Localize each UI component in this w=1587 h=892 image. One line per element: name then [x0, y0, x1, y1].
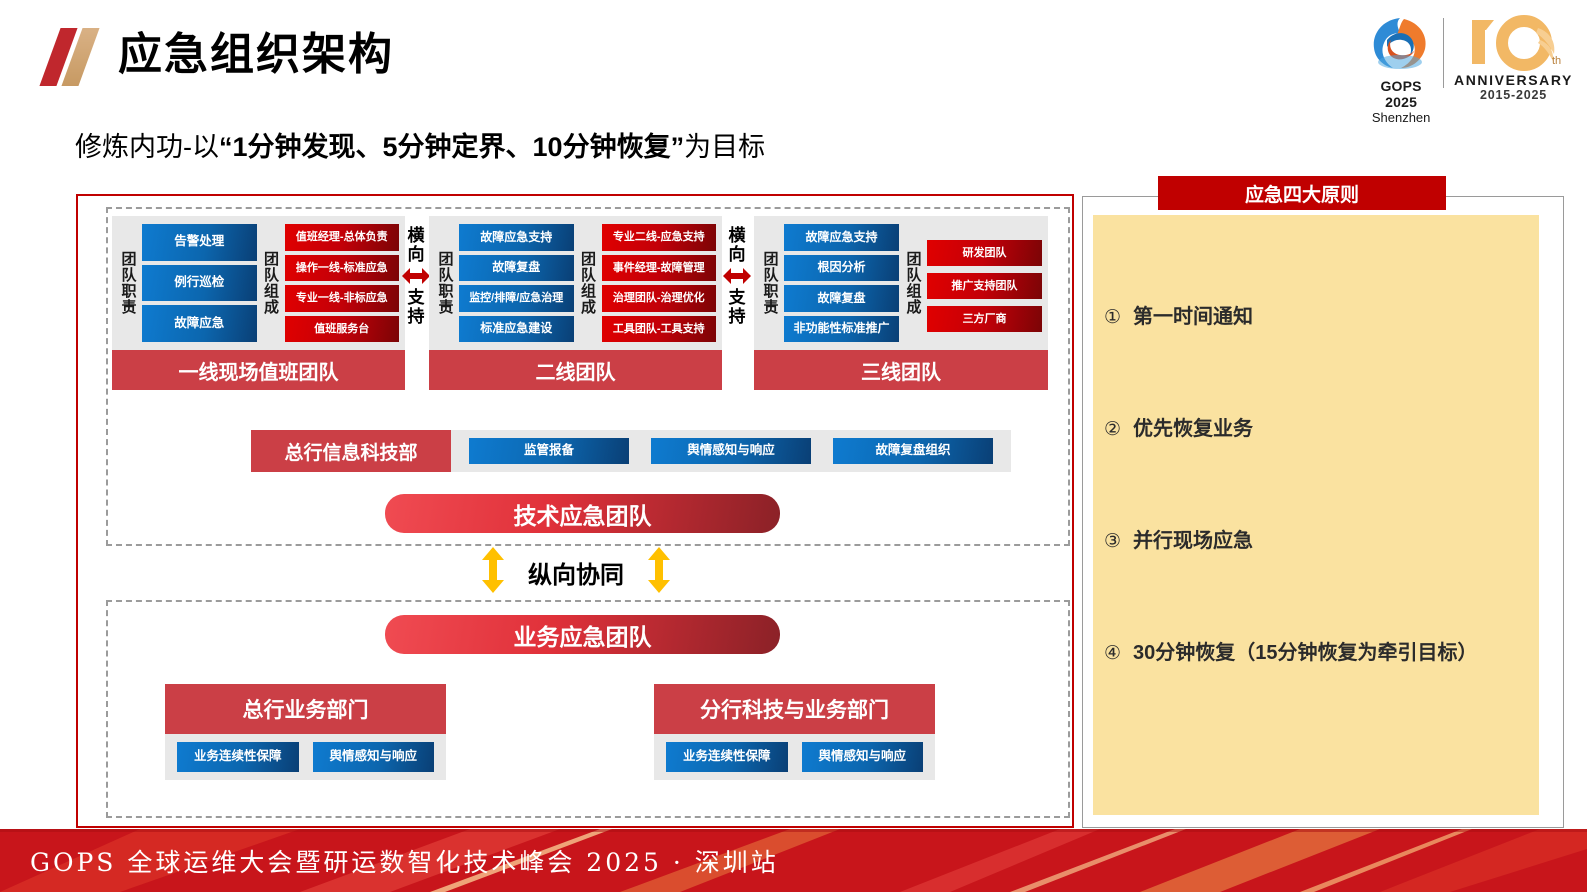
principle-number: ④ [1104, 642, 1121, 665]
gops-logo-name: GOPS 2025 [1363, 78, 1439, 110]
team-header-third-line[interactable]: 三线团队 [754, 350, 1048, 390]
gops-swirl-icon [1366, 14, 1436, 76]
principle-item: ① 第一时间通知 [1104, 300, 1544, 412]
chip-duty[interactable]: 故障应急支持 [784, 224, 899, 251]
principle-item: ③ 并行现场应急 [1104, 524, 1544, 636]
anniversary-label: ANNIVERSARY [1454, 72, 1573, 88]
chip-member[interactable]: 治理团队-治理优化 [602, 285, 717, 312]
vertical-collaboration-label: 纵向协同 [528, 555, 624, 590]
chip-duty[interactable]: 根因分析 [784, 255, 899, 282]
team-members-chips-3: 研发团队 推广支持团队 三方厂商 [927, 224, 1042, 342]
footer-text: GOPS 全球运维大会暨研运数智化技术峰会 2025 · 深圳站 [30, 829, 779, 892]
principles-list: ① 第一时间通知 ② 优先恢复业务 ③ 并行现场应急 ④ 30分钟恢复（15分钟… [1104, 300, 1544, 748]
chip-duty[interactable]: 标准应急建设 [459, 316, 574, 343]
principle-number: ① [1104, 306, 1121, 329]
chip-hq-function[interactable]: 故障复盘组织 [833, 438, 993, 464]
team-header-second-line[interactable]: 二线团队 [429, 350, 722, 390]
vertical-collaboration-group: 纵向协同 [480, 546, 672, 599]
chip-duty[interactable]: 监控/排障/应急治理 [459, 285, 574, 312]
page-title: 应急组织架构 [118, 26, 394, 84]
horizontal-support-1: 横向 支持 [401, 226, 431, 326]
horizontal-support-bottom-2: 支持 [722, 288, 752, 326]
team-members-label-1: 团队组成 [261, 224, 281, 342]
double-arrow-vertical-icon [646, 546, 672, 599]
subtitle-prefix: 修炼内功-以 [75, 132, 219, 162]
principle-text: 并行现场应急 [1133, 524, 1253, 553]
chip-duty[interactable]: 故障应急 [142, 305, 257, 342]
chip-duty[interactable]: 故障应急支持 [459, 224, 574, 251]
chip-member[interactable]: 推广支持团队 [927, 273, 1042, 299]
chip-department-function[interactable]: 舆情感知与响应 [313, 742, 435, 772]
chip-duty[interactable]: 非功能性标准推广 [784, 316, 899, 343]
team-duties-label-1: 团队职责 [118, 224, 138, 342]
department-chips: 业务连续性保障 舆情感知与响应 [165, 734, 446, 780]
team-body-first-line: 团队职责 告警处理 例行巡检 故障应急 团队组成 值班经理-总体负责 操作一线-… [112, 216, 405, 350]
principle-item: ④ 30分钟恢复（15分钟恢复为牵引目标） [1104, 636, 1544, 748]
horizontal-support-2: 横向 支持 [722, 226, 752, 326]
hq-it-chips: 监管报备 舆情感知与响应 故障复盘组织 [451, 430, 1011, 472]
team-duties-chips-1: 告警处理 例行巡检 故障应急 [142, 224, 257, 342]
chip-duty[interactable]: 告警处理 [142, 224, 257, 261]
chip-hq-function[interactable]: 舆情感知与响应 [651, 438, 811, 464]
team-members-label-3: 团队组成 [903, 224, 923, 342]
chip-duty[interactable]: 故障复盘 [784, 285, 899, 312]
team-block-second-line: 团队职责 故障应急支持 故障复盘 监控/排障/应急治理 标准应急建设 团队组成 … [429, 216, 722, 390]
chip-duty[interactable]: 故障复盘 [459, 255, 574, 282]
team-block-third-line: 团队职责 故障应急支持 根因分析 故障复盘 非功能性标准推广 团队组成 研发团队… [754, 216, 1048, 390]
chip-member[interactable]: 工具团队-工具支持 [602, 316, 717, 343]
team-duties-label-2: 团队职责 [435, 224, 455, 342]
tech-emergency-team-pill[interactable]: 技术应急团队 [385, 494, 780, 533]
department-header[interactable]: 总行业务部门 [165, 684, 446, 734]
team-block-first-line: 团队职责 告警处理 例行巡检 故障应急 团队组成 值班经理-总体负责 操作一线-… [112, 216, 405, 390]
gops-logo: GOPS 2025 Shenzhen th ANNIVERSARY 2015-2… [1363, 14, 1573, 114]
principle-text: 第一时间通知 [1133, 300, 1253, 329]
anniversary-10-icon: th [1454, 14, 1573, 72]
chip-member[interactable]: 研发团队 [927, 240, 1042, 266]
horizontal-support-top-2: 横向 [722, 226, 752, 264]
hq-it-department-label[interactable]: 总行信息科技部 [251, 430, 451, 472]
gops-logo-left: GOPS 2025 Shenzhen [1363, 14, 1439, 125]
page-subtitle: 修炼内功-以“1分钟发现、5分钟定界、10分钟恢复”为目标 [75, 129, 765, 165]
logo-divider [1443, 18, 1444, 88]
principle-text: 优先恢复业务 [1133, 412, 1253, 441]
chip-department-function[interactable]: 业务连续性保障 [177, 742, 299, 772]
team-members-chips-2: 专业二线-应急支持 事件经理-故障管理 治理团队-治理优化 工具团队-工具支持 [602, 224, 717, 342]
principle-text: 30分钟恢复（15分钟恢复为牵引目标） [1133, 636, 1478, 665]
chip-member[interactable]: 值班服务台 [285, 316, 400, 343]
subtitle-quote: “1分钟发现、5分钟定界、10分钟恢复” [219, 132, 684, 162]
chip-member[interactable]: 三方厂商 [927, 306, 1042, 332]
chip-hq-function[interactable]: 监管报备 [469, 438, 629, 464]
team-duties-chips-3: 故障应急支持 根因分析 故障复盘 非功能性标准推广 [784, 224, 899, 342]
principle-number: ③ [1104, 530, 1121, 553]
business-emergency-team-pill[interactable]: 业务应急团队 [385, 615, 780, 654]
chip-member[interactable]: 专业二线-应急支持 [602, 224, 717, 251]
chip-department-function[interactable]: 舆情感知与响应 [802, 742, 924, 772]
double-arrow-horizontal-icon [722, 264, 752, 288]
chip-duty[interactable]: 例行巡检 [142, 265, 257, 302]
department-chips: 业务连续性保障 舆情感知与响应 [654, 734, 935, 780]
horizontal-support-top-1: 横向 [401, 226, 431, 264]
chip-member[interactable]: 事件经理-故障管理 [602, 255, 717, 282]
double-arrow-vertical-icon [480, 546, 506, 599]
chip-department-function[interactable]: 业务连续性保障 [666, 742, 788, 772]
principle-number: ② [1104, 418, 1121, 441]
chip-member[interactable]: 操作一线-标准应急 [285, 255, 400, 282]
team-duties-label-3: 团队职责 [760, 224, 780, 342]
svg-text:th: th [1552, 55, 1561, 67]
department-hq-business: 总行业务部门 业务连续性保障 舆情感知与响应 [165, 684, 446, 780]
horizontal-support-bottom-1: 支持 [401, 288, 431, 326]
chip-member[interactable]: 专业一线-非标应急 [285, 285, 400, 312]
principle-item: ② 优先恢复业务 [1104, 412, 1544, 524]
hq-it-department-row: 总行信息科技部 监管报备 舆情感知与响应 故障复盘组织 [251, 430, 976, 472]
slide-root: 应急组织架构 修炼内功-以“1分钟发现、5分钟定界、10分钟恢复”为目标 GOP… [0, 0, 1587, 892]
gops-logo-city: Shenzhen [1363, 110, 1439, 125]
footer-bar: GOPS 全球运维大会暨研运数智化技术峰会 2025 · 深圳站 [0, 829, 1587, 892]
double-arrow-horizontal-icon [401, 264, 431, 288]
team-body-third-line: 团队职责 故障应急支持 根因分析 故障复盘 非功能性标准推广 团队组成 研发团队… [754, 216, 1048, 350]
subtitle-suffix: 为目标 [684, 132, 765, 162]
department-branch-tech-business: 分行科技与业务部门 业务连续性保障 舆情感知与响应 [654, 684, 935, 780]
principles-title: 应急四大原则 [1158, 176, 1446, 210]
department-header[interactable]: 分行科技与业务部门 [654, 684, 935, 734]
team-members-label-2: 团队组成 [578, 224, 598, 342]
team-header-first-line[interactable]: 一线现场值班团队 [112, 350, 405, 390]
gops-logo-right: th ANNIVERSARY 2015-2025 [1454, 14, 1573, 102]
team-duties-chips-2: 故障应急支持 故障复盘 监控/排障/应急治理 标准应急建设 [459, 224, 574, 342]
anniversary-years: 2015-2025 [1454, 88, 1573, 102]
team-members-chips-1: 值班经理-总体负责 操作一线-标准应急 专业一线-非标应急 值班服务台 [285, 224, 400, 342]
chip-member[interactable]: 值班经理-总体负责 [285, 224, 400, 251]
team-body-second-line: 团队职责 故障应急支持 故障复盘 监控/排障/应急治理 标准应急建设 团队组成 … [429, 216, 722, 350]
title-slash-mark [48, 28, 104, 86]
